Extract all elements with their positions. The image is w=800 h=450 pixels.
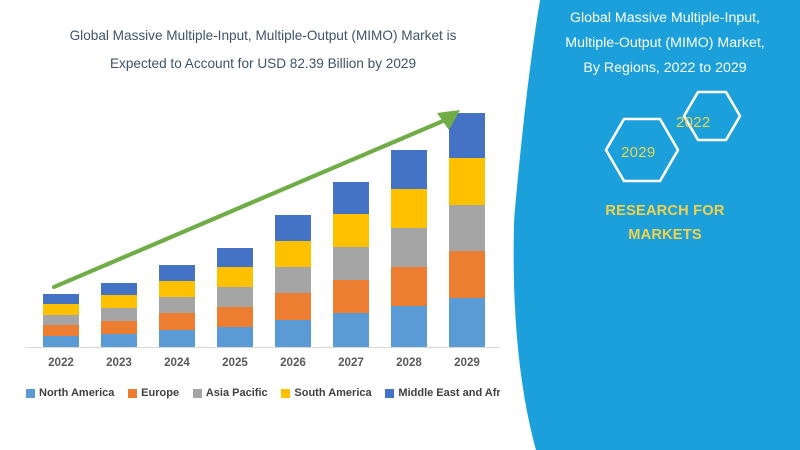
legend-label: Asia Pacific: [206, 387, 268, 399]
legend-swatch-icon: [193, 389, 202, 398]
hex-badge-label-2029: 2029: [621, 144, 656, 161]
x-axis-label-2024: 2024: [147, 356, 207, 369]
legend-label: South America: [294, 387, 371, 399]
brand-line-1: RESEARCH FOR: [530, 199, 800, 223]
hex-badge-label-2022: 2022: [676, 114, 711, 131]
panel-title-line-1: Global Massive Multiple-Input,: [540, 6, 790, 31]
brand-name: RESEARCH FOR MARKETS: [530, 199, 800, 247]
chart-legend: North AmericaEuropeAsia PacificSouth Ame…: [26, 385, 516, 401]
panel-title: Global Massive Multiple-Input, Multiple-…: [540, 6, 790, 81]
legend-swatch-icon: [128, 389, 137, 398]
x-axis-label-2022: 2022: [31, 356, 91, 369]
legend-label: Europe: [141, 387, 179, 399]
legend-item-asia-pacific[interactable]: Asia Pacific: [193, 387, 268, 399]
x-axis-label-2027: 2027: [321, 356, 381, 369]
legend-item-middle-east-and-africa[interactable]: Middle East and Africa: [385, 387, 516, 399]
legend-item-europe[interactable]: Europe: [128, 387, 179, 399]
x-axis-label-2023: 2023: [89, 356, 149, 369]
trend-arrow: [0, 0, 520, 360]
panel-title-line-3: By Regions, 2022 to 2029: [540, 56, 790, 81]
bar-chart-plot-area: 20222023202420252026202720282029: [0, 0, 520, 450]
brand-line-2: MARKETS: [530, 223, 800, 247]
legend-label: North America: [39, 387, 114, 399]
legend-item-north-america[interactable]: North America: [26, 387, 114, 399]
right-brand-panel: Global Massive Multiple-Input, Multiple-…: [500, 0, 800, 450]
legend-swatch-icon: [281, 389, 290, 398]
x-axis-labels: 20222023202420252026202720282029: [0, 356, 520, 374]
x-axis-label-2026: 2026: [263, 356, 323, 369]
legend-item-south-america[interactable]: South America: [281, 387, 371, 399]
infographic-canvas: Global Massive Multiple-Input, Multiple-…: [0, 0, 800, 450]
x-axis-label-2028: 2028: [379, 356, 439, 369]
legend-label: Middle East and Africa: [398, 387, 516, 399]
legend-swatch-icon: [26, 389, 35, 398]
panel-title-line-2: Multiple-Output (MIMO) Market,: [540, 31, 790, 56]
x-axis-label-2025: 2025: [205, 356, 265, 369]
legend-swatch-icon: [385, 389, 394, 398]
x-axis-label-2029: 2029: [437, 356, 497, 369]
hexagon-badges: 2022 2029: [580, 86, 760, 206]
hexagon-outlines-icon: [580, 86, 760, 206]
